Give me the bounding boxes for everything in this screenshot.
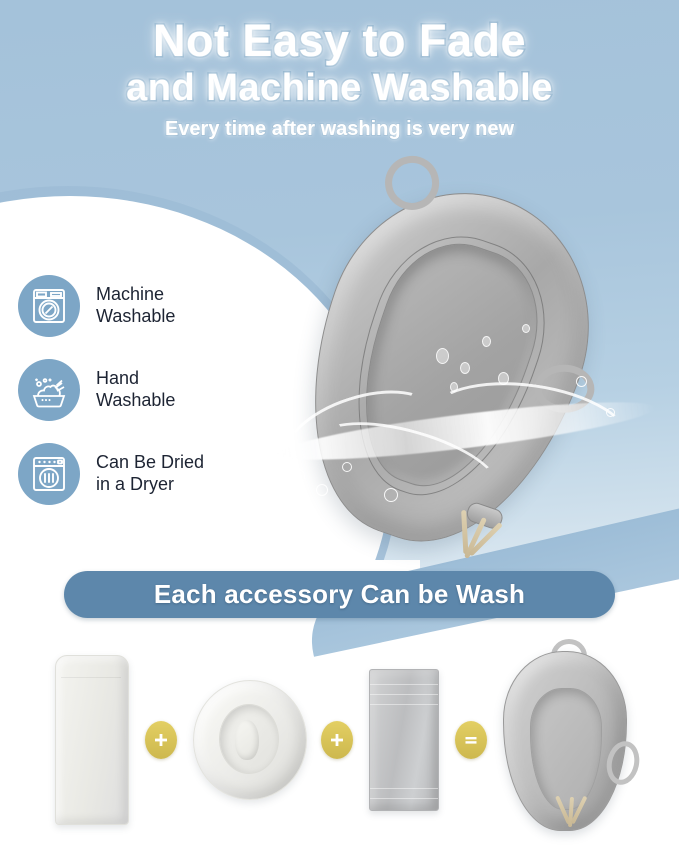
tumble-dryer-icon [18, 443, 80, 505]
subtitle: Every time after washing is very new [0, 118, 679, 141]
bumper-core [235, 720, 259, 760]
operator-equals [455, 721, 487, 759]
water-bubble [316, 484, 328, 496]
water-droplet [460, 362, 470, 374]
water-droplet [522, 324, 530, 333]
folded-sheet-shape [369, 669, 439, 811]
headline-line-1: Not Easy to Fade [0, 18, 679, 64]
water-bubble [606, 408, 615, 417]
hand-wash-basin-icon [18, 359, 80, 421]
sheet-fold [370, 684, 438, 685]
nest-handle-top-icon [374, 145, 449, 220]
plus-icon [153, 732, 169, 748]
baby-nest-bolster [265, 157, 626, 576]
plus-icon [329, 732, 345, 748]
sheet-fold [370, 788, 438, 789]
baby-nest-seam [323, 215, 570, 520]
feature-dryer-safe: Can Be Dried in a Dryer [18, 443, 268, 505]
water-droplet [498, 372, 509, 385]
accessory-equation-row [0, 640, 679, 840]
equals-icon [463, 732, 479, 748]
infographic-page: Not Easy to Fade and Machine Washable Ev… [0, 0, 679, 849]
accessory-banner-text: Each accessory Can be Wash [154, 579, 525, 610]
pad-seam [61, 677, 121, 678]
feature-hand-washable: Hand Washable [18, 359, 268, 421]
operator-plus-1 [145, 721, 177, 759]
accessory-bumper-ring [193, 680, 305, 800]
water-droplet [450, 382, 458, 392]
accessory-banner: Each accessory Can be Wash [64, 571, 615, 618]
header: Not Easy to Fade and Machine Washable Ev… [0, 18, 679, 141]
nest-drawstring [547, 795, 593, 835]
feature-label: Machine Washable [96, 284, 175, 328]
bumper-ring-shape [193, 680, 305, 800]
accessory-mattress-pad [55, 655, 129, 825]
hero-product [286, 176, 646, 566]
water-droplet [436, 348, 449, 364]
washing-machine-icon [18, 275, 80, 337]
assembled-nest-shape [503, 645, 625, 835]
headline-line-2: and Machine Washable [0, 69, 679, 108]
sheet-fold [370, 704, 438, 705]
nest-handle-side-icon [534, 364, 595, 413]
nest-mattress [530, 688, 602, 810]
sheet-fold [370, 694, 438, 695]
feature-list: Machine Washable Hand Washable [18, 275, 268, 527]
water-bubble [288, 468, 305, 485]
feature-machine-washable: Machine Washable [18, 275, 268, 337]
nest-drawstring [436, 501, 514, 573]
mattress-pad-shape [55, 655, 129, 825]
sheet-fold [370, 798, 438, 799]
feature-label: Hand Washable [96, 368, 175, 412]
accessory-assembled-nest [503, 645, 625, 835]
feature-label: Can Be Dried in a Dryer [96, 452, 204, 496]
water-droplet [482, 336, 491, 347]
accessory-folded-sheet [369, 669, 439, 811]
operator-plus-2 [321, 721, 353, 759]
